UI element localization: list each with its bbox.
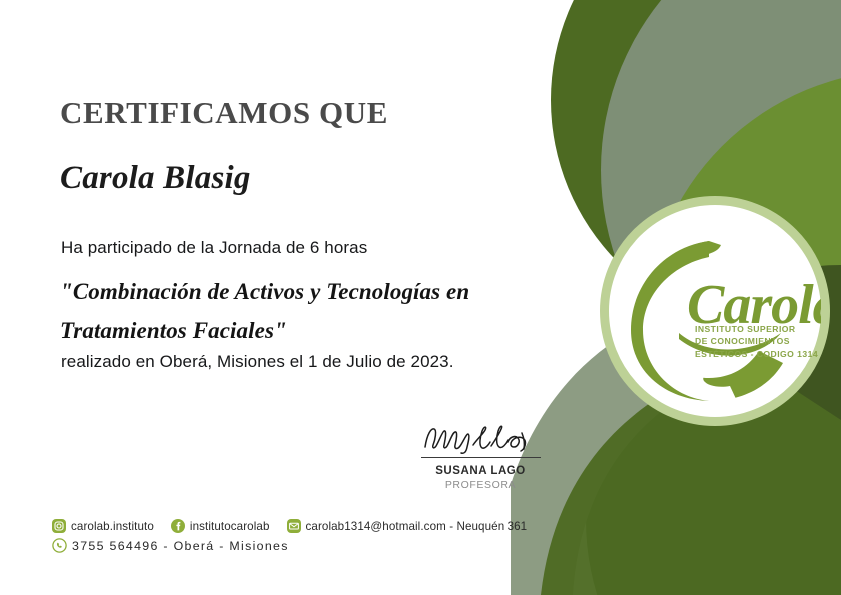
email-icon xyxy=(287,519,301,533)
certificate-page: Carola B. INSTITUTO SUPERIOR DE CONOCIMI… xyxy=(0,0,841,595)
whatsapp-number: 3755 564496 - Oberá - Misiones xyxy=(72,539,289,553)
signer-role: PROFESORA xyxy=(393,479,568,491)
handwritten-signature xyxy=(411,420,551,456)
signature-rule xyxy=(421,457,541,458)
contact-instagram[interactable]: carolab.instituto xyxy=(52,519,154,533)
participation-line: Ha participado de la Jornada de 6 horas xyxy=(61,238,367,258)
logo-subtitle-line-2: DE CONOCIMIENTOS xyxy=(695,335,821,347)
instagram-handle: carolab.instituto xyxy=(71,520,154,533)
facebook-handle: institutocarolab xyxy=(190,520,270,533)
contact-whatsapp[interactable]: 3755 564496 - Oberá - Misiones xyxy=(52,538,289,553)
facebook-icon xyxy=(171,519,185,533)
recipient-name: Carola Blasig xyxy=(60,160,251,197)
footer-contacts: carolab.instituto institutocarolab carol… xyxy=(52,519,572,558)
signer-name: SUSANA LAGO xyxy=(393,465,568,477)
brand-logo-badge: Carola B. INSTITUTO SUPERIOR DE CONOCIMI… xyxy=(600,196,830,426)
logo-subtitle-line-1: INSTITUTO SUPERIOR xyxy=(695,323,821,335)
contact-facebook[interactable]: institutocarolab xyxy=(171,519,270,533)
instagram-icon xyxy=(52,519,66,533)
certificate-heading: CERTIFICAMOS QUE xyxy=(60,95,388,131)
face-profile-icon: Carola B. xyxy=(609,205,821,417)
place-and-date-line: realizado en Oberá, Misiones el 1 de Jul… xyxy=(61,352,454,372)
signature-block: SUSANA LAGO PROFESORA xyxy=(393,420,568,491)
email-address: carolab1314@hotmail.com - Neuquén 361 xyxy=(306,520,528,533)
footer-row-1: carolab.instituto institutocarolab carol… xyxy=(52,519,572,533)
contact-email[interactable]: carolab1314@hotmail.com - Neuquén 361 xyxy=(287,519,528,533)
logo-subtitle: INSTITUTO SUPERIOR DE CONOCIMIENTOS ESTÉ… xyxy=(695,323,821,360)
whatsapp-icon xyxy=(52,538,67,553)
logo-subtitle-line-3: ESTÉTICOS - CODIGO 1314 xyxy=(695,348,821,360)
course-title: "Combinación de Activos y Tecnologías en… xyxy=(60,272,560,350)
footer-row-2: 3755 564496 - Oberá - Misiones xyxy=(52,538,572,553)
